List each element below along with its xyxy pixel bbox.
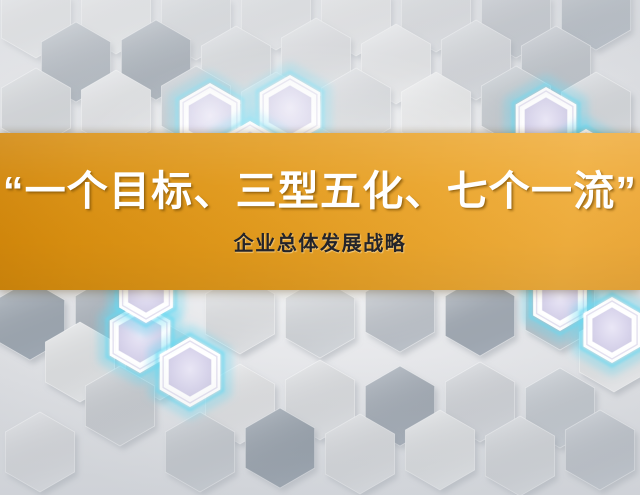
page-subtitle: 企业总体发展战略 [234, 232, 407, 256]
title-slide: “一个目标、三型五化、七个一流” 企业总体发展战略 [0, 0, 640, 495]
title-banner: “一个目标、三型五化、七个一流” 企业总体发展战略 [0, 133, 640, 290]
page-title: “一个目标、三型五化、七个一流” [3, 169, 637, 215]
